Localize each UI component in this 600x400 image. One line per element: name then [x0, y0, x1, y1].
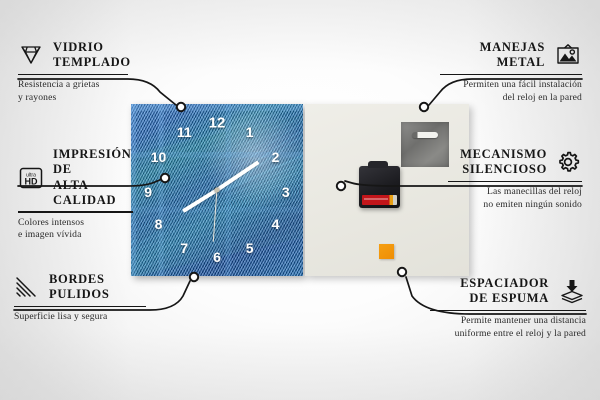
feature-description: Las manecillas del reloj no emiten ningú…	[448, 186, 582, 212]
clock-numeral-8: 8	[155, 216, 163, 232]
feature-rule	[430, 310, 586, 312]
feature-impresion-alta-calidad[interactable]: ultra HD IMPRESIÓN DE ALTA CALIDAD Color…	[18, 147, 136, 242]
clock-face: 12 1 2 3 4 5 6 7 8 9 10 11	[131, 104, 303, 276]
feature-header: MANEJAS METAL	[440, 40, 582, 71]
ultra-hd-icon: ultra HD	[18, 166, 44, 190]
feature-title: IMPRESIÓN DE ALTA CALIDAD	[53, 147, 136, 208]
feature-title: VIDRIO TEMPLADO	[53, 40, 131, 71]
feature-description: Superficie lisa y segura	[14, 311, 150, 324]
clock-numeral-9: 9	[144, 184, 152, 200]
gear-icon	[556, 150, 582, 174]
clock-numeral-4: 4	[272, 216, 280, 232]
clock-numeral-11: 11	[177, 124, 192, 140]
clock-numeral-3: 3	[282, 184, 290, 200]
feature-description: Colores intensos e imagen vívida	[18, 217, 136, 243]
feature-rule	[18, 211, 133, 213]
feature-description: Permite mantener una distancia uniforme …	[430, 315, 586, 341]
foam-spacer	[379, 244, 394, 259]
framed-picture-icon	[554, 43, 582, 67]
feature-title: MECANISMO SILENCIOSO	[460, 147, 547, 178]
clock-center-pin	[215, 188, 220, 193]
infographic-canvas: 12 1 2 3 4 5 6 7 8 9 10 11	[0, 0, 600, 400]
feature-description: Permiten una fácil instalación del reloj…	[440, 79, 582, 105]
feature-vidrio-templado[interactable]: VIDRIO TEMPLADO Resistencia a grietas y …	[18, 40, 130, 105]
hanger-slot	[412, 132, 438, 138]
feature-header: ultra HD IMPRESIÓN DE ALTA CALIDAD	[18, 147, 136, 208]
foam-spacer-icon	[558, 278, 586, 304]
feature-espaciador-espuma[interactable]: ESPACIADOR DE ESPUMA Permite mantener un…	[430, 276, 586, 341]
feature-bordes-pulidos[interactable]: BORDES PULIDOS Superficie lisa y segura	[14, 272, 150, 324]
feature-header: MECANISMO SILENCIOSO	[448, 147, 582, 178]
polished-edges-icon	[14, 275, 40, 299]
clock-numeral-6: 6	[213, 249, 221, 265]
feature-rule	[18, 74, 128, 76]
svg-text:HD: HD	[25, 176, 38, 186]
feature-rule	[14, 306, 146, 308]
clock-numeral-5: 5	[246, 240, 254, 256]
feature-header: ESPACIADOR DE ESPUMA	[430, 276, 586, 307]
feature-title: ESPACIADOR DE ESPUMA	[460, 276, 549, 307]
feature-description: Resistencia a grietas y rayones	[18, 79, 130, 105]
battery	[362, 195, 397, 205]
clock-numeral-12: 12	[209, 114, 226, 131]
clock-numeral-2: 2	[272, 149, 280, 165]
clock-second-hand	[213, 190, 218, 242]
clock-mechanism-box	[359, 166, 400, 208]
product-image: 12 1 2 3 4 5 6 7 8 9 10 11	[131, 104, 469, 276]
clock-numeral-10: 10	[151, 149, 167, 165]
feature-manejas-metal[interactable]: MANEJAS METAL Permiten una fácil instala…	[440, 40, 582, 105]
metal-hanger-plate	[401, 122, 449, 167]
clock-numeral-7: 7	[180, 240, 188, 256]
feature-mecanismo-silencioso[interactable]: MECANISMO SILENCIOSO Las manecillas del …	[448, 147, 582, 212]
feature-header: VIDRIO TEMPLADO	[18, 40, 130, 71]
feature-header: BORDES PULIDOS	[14, 272, 150, 303]
clock-hour-hand	[182, 188, 218, 213]
feature-rule	[440, 74, 582, 76]
feature-rule	[448, 181, 582, 183]
mechanism-tab	[368, 161, 388, 168]
clock-back-panel	[305, 104, 469, 276]
diamond-icon	[18, 44, 44, 66]
feature-title: BORDES PULIDOS	[49, 272, 109, 303]
clock-minute-hand	[216, 160, 260, 191]
clock-numeral-1: 1	[246, 124, 254, 140]
feature-title: MANEJAS METAL	[480, 40, 545, 71]
